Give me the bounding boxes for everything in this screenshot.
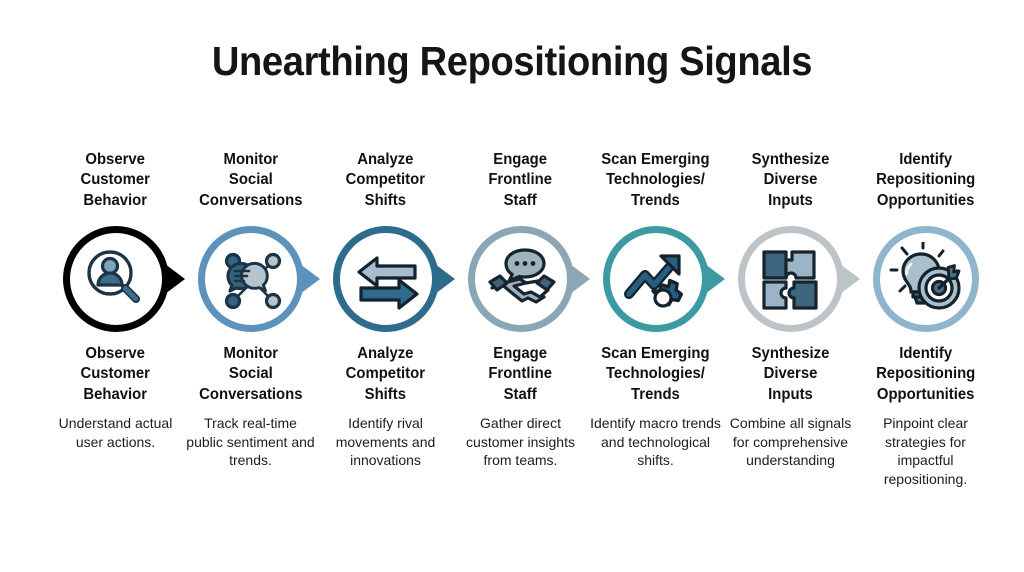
step-heading-top-line: Inputs [752, 191, 830, 211]
step-heading-top-line: Analyze [346, 150, 425, 170]
step-heading-top-line: Engage [489, 150, 553, 170]
step-description: Gather direct customer insights from tea… [454, 414, 587, 470]
process-step-2: MonitorSocialConversationsMonitorSocialC… [183, 150, 318, 470]
step-label-top: MonitorSocialConversations [199, 150, 302, 220]
process-step-5: Scan EmergingTechnologies/TrendsScan Eme… [588, 150, 723, 470]
page-title: Unearthing Repositioning Signals [36, 38, 988, 85]
step-heading-bottom-line: Analyze [346, 344, 425, 364]
step-description: Identify macro trends and technological … [589, 414, 722, 470]
step-description: Combine all signals for comprehensive un… [724, 414, 857, 470]
step-heading-bottom-line: Conversations [199, 385, 302, 405]
growth-arrow-gear-icon [619, 242, 693, 316]
step-heading-bottom-line: Shifts [346, 385, 425, 405]
step-heading-top-line: Trends [601, 191, 709, 211]
step-heading-bottom-line: Engage [489, 344, 553, 364]
step-circle-wrap [453, 220, 588, 338]
step-label-top: Scan EmergingTechnologies/Trends [601, 150, 709, 220]
step-description: Track real-time public sentiment and tre… [184, 414, 317, 470]
step-circle[interactable] [468, 226, 574, 332]
step-heading-top-line: Staff [489, 191, 553, 211]
step-heading-top-line: Scan Emerging [601, 150, 709, 170]
step-label-bottom: MonitorSocialConversations [199, 344, 302, 405]
step-heading-top-line: Conversations [199, 191, 302, 211]
process-flow: ObserveCustomerBehaviorObserveCustomerBe… [48, 150, 992, 510]
step-heading-bottom-line: Monitor [199, 344, 302, 364]
step-heading-bottom-line: Customer [81, 364, 150, 384]
magnifier-person-icon [79, 242, 153, 316]
step-label-bottom: AnalyzeCompetitorShifts [346, 344, 425, 405]
step-heading-top-line: Synthesize [752, 150, 830, 170]
step-heading-top-line: Technologies/ [601, 170, 709, 190]
step-label-top: EngageFrontlineStaff [489, 150, 553, 220]
step-heading-bottom-line: Frontline [489, 364, 553, 384]
step-label-bottom: ObserveCustomerBehavior [81, 344, 150, 405]
step-heading-top-line: Behavior [81, 191, 150, 211]
step-heading-top-line: Repositioning [876, 170, 975, 190]
step-heading-top-line: Competitor [346, 170, 425, 190]
step-description: Pinpoint clear strategies for impactful … [859, 414, 992, 488]
step-heading-top-line: Customer [81, 170, 150, 190]
step-heading-top-line: Diverse [752, 170, 830, 190]
process-step-6: SynthesizeDiverseInputsSynthesizeDiverse… [723, 150, 858, 470]
step-circle-wrap [588, 220, 723, 338]
step-label-top: IdentifyRepositioningOpportunities [876, 150, 975, 220]
step-heading-bottom-line: Inputs [752, 385, 830, 405]
step-heading-bottom-line: Identify [876, 344, 975, 364]
step-circle-wrap [318, 220, 453, 338]
step-heading-bottom-line: Trends [601, 385, 709, 405]
infographic-canvas: Unearthing Repositioning Signals Observe… [0, 0, 1024, 572]
process-step-4: EngageFrontlineStaffEngageFrontlineStaff… [453, 150, 588, 470]
process-step-1: ObserveCustomerBehaviorObserveCustomerBe… [48, 150, 183, 451]
step-circle[interactable] [333, 226, 439, 332]
puzzle-pieces-icon [754, 242, 828, 316]
step-heading-bottom-line: Social [199, 364, 302, 384]
step-heading-bottom-line: Behavior [81, 385, 150, 405]
step-label-bottom: Scan EmergingTechnologies/Trends [601, 344, 709, 405]
step-heading-bottom-line: Synthesize [752, 344, 830, 364]
step-label-top: SynthesizeDiverseInputs [752, 150, 830, 220]
social-network-chat-icon [214, 242, 288, 316]
step-heading-top-line: Opportunities [876, 191, 975, 211]
step-description: Identify rival movements and innovations [319, 414, 452, 470]
step-circle[interactable] [603, 226, 709, 332]
step-circle[interactable] [873, 226, 979, 332]
step-label-top: ObserveCustomerBehavior [81, 150, 150, 220]
step-heading-top-line: Observe [81, 150, 150, 170]
process-step-3: AnalyzeCompetitorShiftsAnalyzeCompetitor… [318, 150, 453, 470]
step-label-top: AnalyzeCompetitorShifts [346, 150, 425, 220]
step-heading-top-line: Frontline [489, 170, 553, 190]
two-way-arrows-icon [349, 242, 423, 316]
handshake-speech-icon [484, 242, 558, 316]
step-label-bottom: IdentifyRepositioningOpportunities [876, 344, 975, 405]
step-circle[interactable] [198, 226, 304, 332]
step-heading-top-line: Monitor [199, 150, 302, 170]
step-heading-top-line: Identify [876, 150, 975, 170]
lightbulb-target-icon [889, 242, 963, 316]
step-heading-bottom-line: Staff [489, 385, 553, 405]
step-heading-bottom-line: Technologies/ [601, 364, 709, 384]
step-heading-bottom-line: Competitor [346, 364, 425, 384]
step-heading-top-line: Social [199, 170, 302, 190]
step-heading-bottom-line: Diverse [752, 364, 830, 384]
step-heading-top-line: Shifts [346, 191, 425, 211]
step-label-bottom: SynthesizeDiverseInputs [752, 344, 830, 405]
step-circle-wrap [858, 220, 993, 338]
step-circle-wrap [723, 220, 858, 338]
step-label-bottom: EngageFrontlineStaff [489, 344, 553, 405]
process-step-7: IdentifyRepositioningOpportunitiesIdenti… [858, 150, 993, 488]
step-circle[interactable] [738, 226, 844, 332]
step-circle-wrap [48, 220, 183, 338]
step-circle[interactable] [63, 226, 169, 332]
step-heading-bottom-line: Observe [81, 344, 150, 364]
step-description: Understand actual user actions. [49, 414, 182, 451]
step-heading-bottom-line: Repositioning [876, 364, 975, 384]
step-heading-bottom-line: Scan Emerging [601, 344, 709, 364]
step-circle-wrap [183, 220, 318, 338]
step-heading-bottom-line: Opportunities [876, 385, 975, 405]
